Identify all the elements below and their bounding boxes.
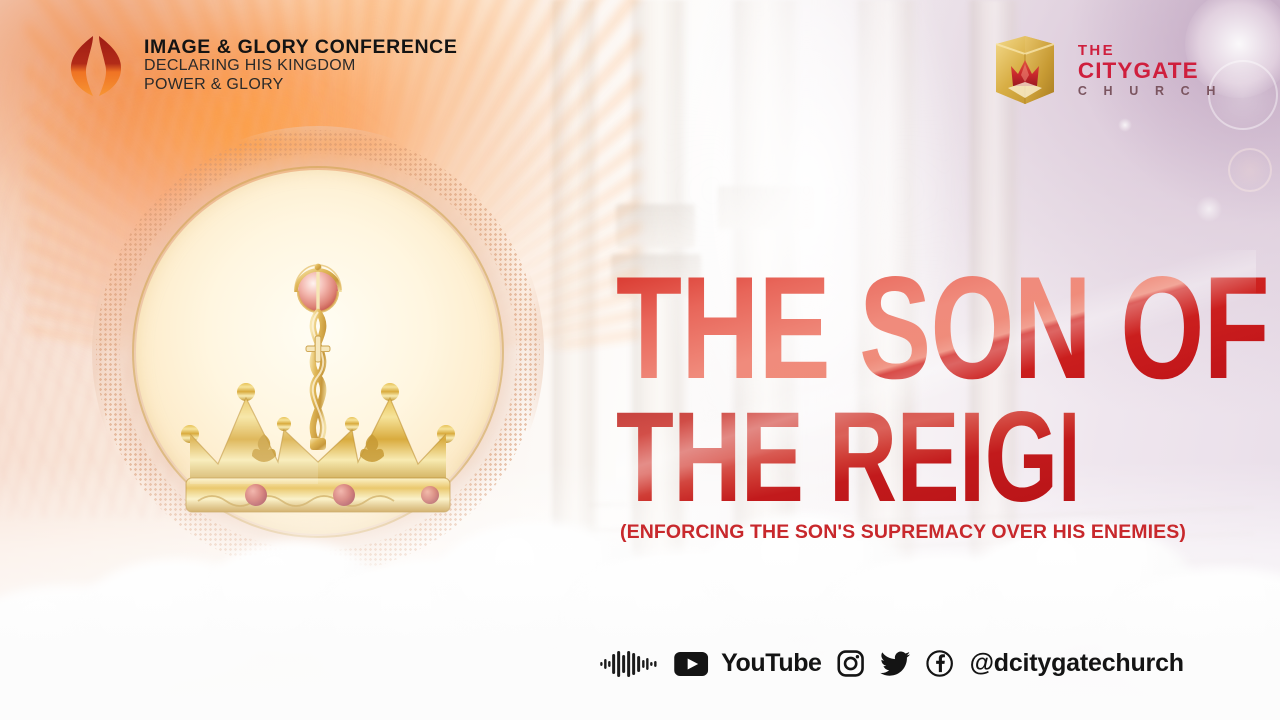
conference-tagline-2: POWER & GLORY [144, 76, 457, 95]
conference-flyer: IMAGE & GLORY CONFERENCE DECLARING HIS K… [0, 0, 1280, 720]
church-the: THE [1078, 43, 1222, 58]
conference-logo: IMAGE & GLORY CONFERENCE DECLARING HIS K… [60, 30, 457, 102]
social-handle: @dcitygatechurch [970, 649, 1184, 678]
conference-logo-text: IMAGE & GLORY CONFERENCE DECLARING HIS K… [144, 37, 457, 95]
church-kind: C H U R C H [1078, 85, 1222, 98]
audio-waveform-icon [600, 651, 658, 677]
title-line-1-row: THE SON OF GOD AND [616, 268, 1236, 402]
church-logo-text: THE CITYGATE C H U R C H [1078, 43, 1222, 98]
social-bar: YouTube @dcitygatechurch [600, 649, 1184, 678]
title-block: THE SON OF GOD AND THE REIGN OF RIGHTEOU… [616, 268, 1236, 544]
citygate-shield-crown-icon [986, 30, 1064, 110]
youtube-icon[interactable] [674, 652, 708, 676]
youtube-label: YouTube [721, 649, 821, 678]
conference-name: IMAGE & GLORY CONFERENCE [144, 37, 457, 58]
facebook-icon[interactable] [927, 650, 954, 677]
instagram-icon[interactable] [838, 650, 865, 677]
conference-tagline-1: DECLARING HIS KINGDOM [144, 57, 457, 76]
twitter-icon[interactable] [881, 651, 911, 677]
title-line-2: THE REIGN OF RIGHTEOUSNESS [616, 406, 1075, 511]
church-name: CITYGATE [1078, 60, 1222, 83]
title-line-1: THE SON OF GOD [616, 268, 1280, 388]
church-logo: THE CITYGATE C H U R C H [986, 30, 1222, 110]
twin-flame-icon [60, 30, 132, 102]
